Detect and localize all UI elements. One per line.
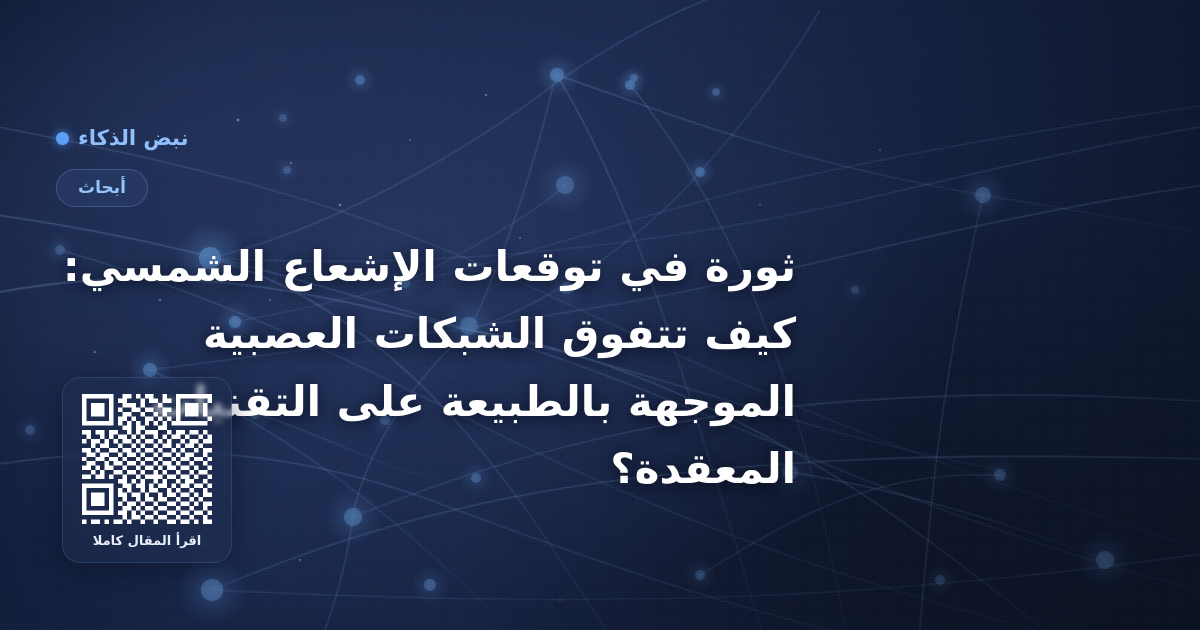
qr-card-caption: اقرأ المقال كاملا xyxy=(93,535,202,548)
brand-lockup: نبض الذكاء xyxy=(56,128,188,149)
social-share-card: نبض الذكاء أبحاث ثورة في توقعات الإشعاع … xyxy=(0,0,1200,630)
brand-dot-icon xyxy=(56,132,69,145)
network-node xyxy=(25,425,35,435)
qr-code-card[interactable]: اقرأ المقال كاملا xyxy=(62,377,232,563)
category-badge[interactable]: أبحاث xyxy=(56,169,148,207)
qr-code-icon[interactable] xyxy=(82,394,212,524)
brand-name: نبض الذكاء xyxy=(78,128,188,149)
